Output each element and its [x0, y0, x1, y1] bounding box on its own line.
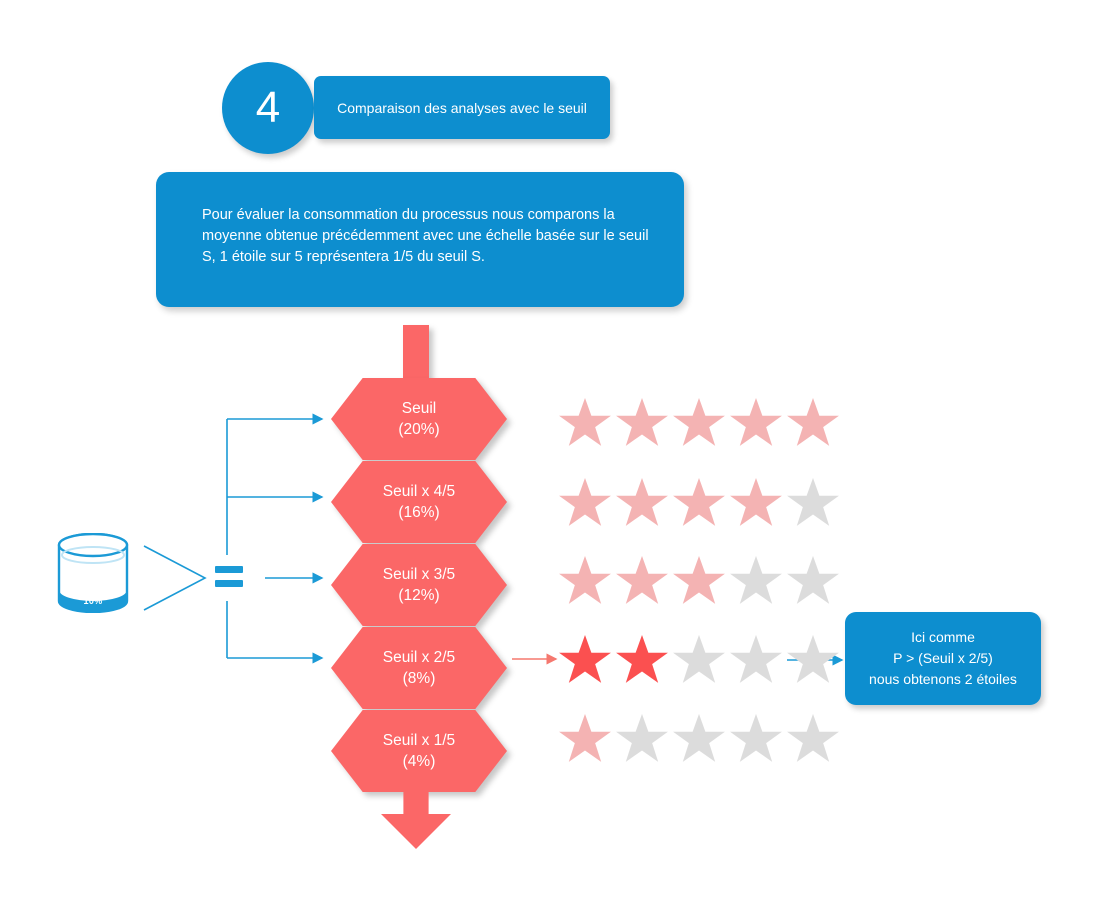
star-rating-row-3 — [558, 555, 840, 607]
star-icon-empty — [729, 555, 783, 607]
threshold-level-4[interactable]: Seuil x 2/5 (8%) — [331, 627, 507, 709]
step-title-label: Comparaison des analyses avec le seuil — [337, 99, 587, 117]
hexagon-shape — [331, 710, 507, 792]
callout-line-1: Ici comme — [911, 629, 975, 645]
star-icon-filled — [615, 477, 669, 529]
star-icon-empty — [786, 477, 840, 529]
description-panel: Pour évaluer la consommation du processu… — [156, 172, 684, 307]
hexagon-shape — [331, 544, 507, 626]
star-icon-filled — [615, 555, 669, 607]
star-icon-empty — [786, 634, 840, 686]
threshold-level-2[interactable]: Seuil x 4/5 (16%) — [331, 461, 507, 543]
callout-line-2: P > (Seuil x 2/5) — [893, 650, 993, 666]
equals-bar-top — [215, 566, 243, 573]
star-icon-filled — [786, 397, 840, 449]
star-icon-filled — [558, 713, 612, 765]
star-icon-empty — [729, 634, 783, 686]
hexagon-shape — [331, 627, 507, 709]
star-rating-row-1 — [558, 397, 840, 449]
star-icon-filled — [672, 477, 726, 529]
star-icon-filled — [729, 397, 783, 449]
equals-bar-bottom — [215, 580, 243, 587]
funnel-tail-shaft — [403, 325, 429, 381]
diagram-canvas: 4 Comparaison des analyses avec le seuil… — [0, 0, 1103, 917]
step-number-label: 4 — [256, 83, 280, 133]
threshold-scale-stack: Seuil (20%) Seuil x 4/5 (16%) Seuil x 3/… — [331, 378, 507, 793]
star-icon-filled — [558, 397, 612, 449]
star-icon-empty — [615, 713, 669, 765]
star-icon-filled — [672, 555, 726, 607]
star-rating-row-5 — [558, 713, 840, 765]
threshold-level-3[interactable]: Seuil x 3/5 (12%) — [331, 544, 507, 626]
star-icon-empty — [672, 713, 726, 765]
result-callout-box: Ici comme P > (Seuil x 2/5) nous obtenon… — [845, 612, 1041, 705]
threshold-level-1[interactable]: Seuil (20%) — [331, 378, 507, 460]
star-icon-empty — [729, 713, 783, 765]
threshold-level-5[interactable]: Seuil x 1/5 (4%) — [331, 710, 507, 792]
star-icon-filled — [615, 397, 669, 449]
step-number-badge: 4 — [222, 62, 314, 154]
star-icon-filled — [615, 634, 669, 686]
description-text: Pour évaluer la consommation du processu… — [202, 207, 649, 265]
star-icon-empty — [786, 713, 840, 765]
step-title-box: Comparaison des analyses avec le seuil — [314, 76, 610, 139]
database-cylinder-icon — [57, 533, 129, 613]
star-icon-filled — [672, 397, 726, 449]
star-rating-row-2 — [558, 477, 840, 529]
star-icon-filled — [558, 555, 612, 607]
hexagon-shape — [331, 461, 507, 543]
star-icon-empty — [672, 634, 726, 686]
callout-line-3: nous obtenons 2 étoiles — [869, 671, 1017, 687]
star-rating-row-4 — [558, 634, 840, 686]
star-icon-filled — [729, 477, 783, 529]
star-icon-filled — [558, 634, 612, 686]
equals-symbol — [215, 566, 243, 590]
greater-than-icon — [144, 546, 205, 610]
star-icon-empty — [786, 555, 840, 607]
star-icon-filled — [558, 477, 612, 529]
hexagon-shape — [331, 378, 507, 460]
